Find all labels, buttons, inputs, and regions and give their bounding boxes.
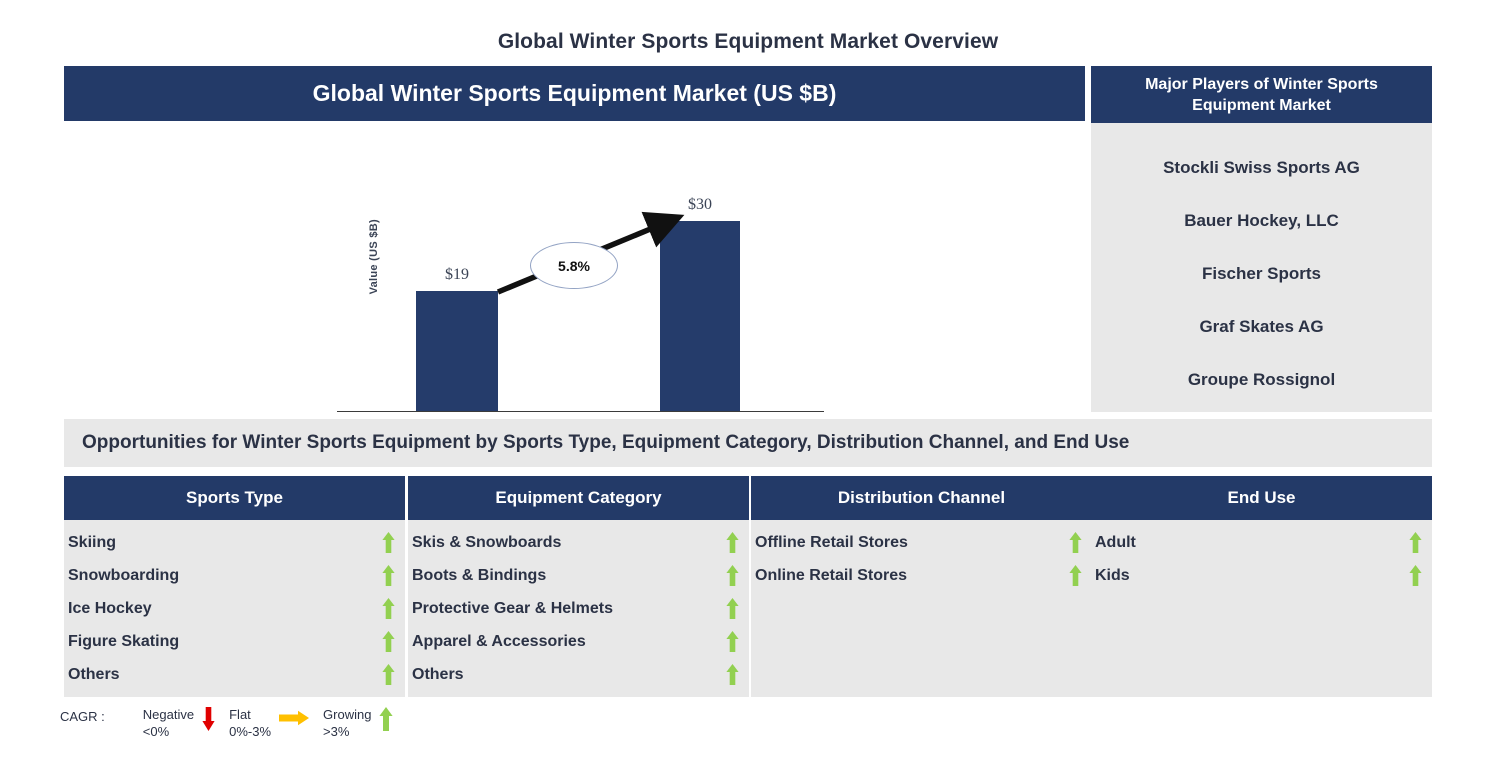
growing-arrow-icon [379, 631, 397, 652]
opportunities-banner: Opportunities for Winter Sports Equipmen… [64, 419, 1432, 467]
legend-entry-range: <0% [143, 723, 194, 740]
column-header: Sports Type [64, 476, 405, 520]
list-item-label: Kids [1095, 567, 1130, 585]
opportunity-column-end-use: End Use Adult Kids [1091, 476, 1432, 697]
opportunity-column-equipment-category: Equipment Category Skis & Snowboards Boo… [408, 476, 749, 697]
growing-arrow-icon [723, 565, 741, 586]
list-item: Stockli Swiss Sports AG [1091, 141, 1432, 194]
list-item: Adult [1091, 526, 1432, 559]
growing-arrow-icon [1406, 532, 1424, 553]
major-players-list: Stockli Swiss Sports AG Bauer Hockey, LL… [1091, 123, 1432, 406]
list-item: Skiing [64, 526, 405, 559]
column-header: Distribution Channel [751, 476, 1092, 520]
arrow-down-red-icon [202, 706, 215, 734]
arrow-up-green-icon [379, 706, 393, 734]
major-players-title: Major Players of Winter Sports Equipment… [1091, 66, 1432, 123]
legend-entry-range: >3% [323, 723, 371, 740]
legend-entry-flat: Flat 0%-3% [229, 706, 317, 740]
list-item-label: Skis & Snowboards [412, 534, 561, 552]
list-item: Figure Skating [64, 625, 405, 658]
cagr-legend: CAGR : Negative <0% Flat 0%-3% Growing >… [60, 706, 407, 740]
legend-entry-negative: Negative <0% [143, 706, 223, 740]
growing-arrow-icon [723, 598, 741, 619]
list-item-label: Boots & Bindings [412, 567, 546, 585]
opportunity-column-sports-type: Sports Type Skiing Snowboarding Ice Hock… [64, 476, 405, 697]
chart-plot-area: Value (US $B) $19 2026 $30 2035 5.8% Sou… [64, 121, 1085, 412]
list-item-label: Skiing [68, 534, 116, 552]
growing-arrow-icon [723, 532, 741, 553]
chart-title: Global Winter Sports Equipment Market (U… [64, 66, 1085, 121]
cagr-badge: 5.8% [530, 242, 618, 289]
growing-arrow-icon [379, 598, 397, 619]
column-header: End Use [1091, 476, 1432, 520]
list-item: Bauer Hockey, LLC [1091, 194, 1432, 247]
legend-entry-name: Growing [323, 706, 371, 723]
list-item: Boots & Bindings [408, 559, 749, 592]
list-item: Fischer Sports [1091, 247, 1432, 300]
growing-arrow-icon [379, 664, 397, 685]
list-item: Snowboarding [64, 559, 405, 592]
list-item-label: Online Retail Stores [755, 567, 907, 585]
list-item: Groupe Rossignol [1091, 353, 1432, 406]
page-title: Global Winter Sports Equipment Market Ov… [0, 30, 1496, 54]
list-item: Kids [1091, 559, 1432, 592]
column-list: Skiing Snowboarding Ice Hockey Figure Sk… [64, 520, 405, 691]
list-item-label: Protective Gear & Helmets [412, 600, 613, 618]
list-item-label: Offline Retail Stores [755, 534, 908, 552]
list-item: Others [64, 658, 405, 691]
column-list: Skis & Snowboards Boots & Bindings Prote… [408, 520, 749, 691]
bar-2026 [416, 291, 498, 411]
list-item: Graf Skates AG [1091, 300, 1432, 353]
growing-arrow-icon [1066, 532, 1084, 553]
arrow-right-yellow-icon [279, 706, 309, 729]
growing-arrow-icon [379, 532, 397, 553]
major-players-panel: Major Players of Winter Sports Equipment… [1091, 66, 1432, 412]
list-item: Protective Gear & Helmets [408, 592, 749, 625]
legend-entry-text: Flat 0%-3% [229, 706, 271, 740]
legend-entry-growing: Growing >3% [323, 706, 401, 740]
list-item-label: Ice Hockey [68, 600, 152, 618]
growing-arrow-icon [379, 565, 397, 586]
list-item-label: Others [68, 666, 120, 684]
growing-arrow-icon [723, 664, 741, 685]
legend-entry-name: Negative [143, 706, 194, 723]
list-item: Apparel & Accessories [408, 625, 749, 658]
legend-entry-name: Flat [229, 706, 271, 723]
column-header: Equipment Category [408, 476, 749, 520]
list-item: Others [408, 658, 749, 691]
legend-entry-range: 0%-3% [229, 723, 271, 740]
list-item: Online Retail Stores [751, 559, 1092, 592]
list-item-label: Others [412, 666, 464, 684]
column-list: Offline Retail Stores Online Retail Stor… [751, 520, 1092, 592]
growing-arrow-icon [1066, 565, 1084, 586]
list-item: Offline Retail Stores [751, 526, 1092, 559]
opportunity-column-distribution-channel: Distribution Channel Offline Retail Stor… [751, 476, 1092, 697]
list-item-label: Apparel & Accessories [412, 633, 586, 651]
list-item: Skis & Snowboards [408, 526, 749, 559]
bar-value-2035: $30 [660, 196, 740, 214]
list-item-label: Figure Skating [68, 633, 179, 651]
list-item-label: Adult [1095, 534, 1136, 552]
list-item: Ice Hockey [64, 592, 405, 625]
growing-arrow-icon [1406, 565, 1424, 586]
growing-arrow-icon [723, 631, 741, 652]
market-chart-card: Global Winter Sports Equipment Market (U… [64, 66, 1085, 412]
list-item-label: Snowboarding [68, 567, 179, 585]
cagr-legend-label: CAGR : [60, 706, 105, 724]
bar-2035 [660, 221, 740, 411]
bar-value-2026: $19 [417, 266, 497, 284]
chart-x-axis-line [337, 411, 824, 412]
chart-y-axis-label: Value (US $B) [368, 219, 380, 294]
legend-entry-text: Negative <0% [143, 706, 194, 740]
column-list: Adult Kids [1091, 520, 1432, 592]
legend-entry-text: Growing >3% [323, 706, 371, 740]
